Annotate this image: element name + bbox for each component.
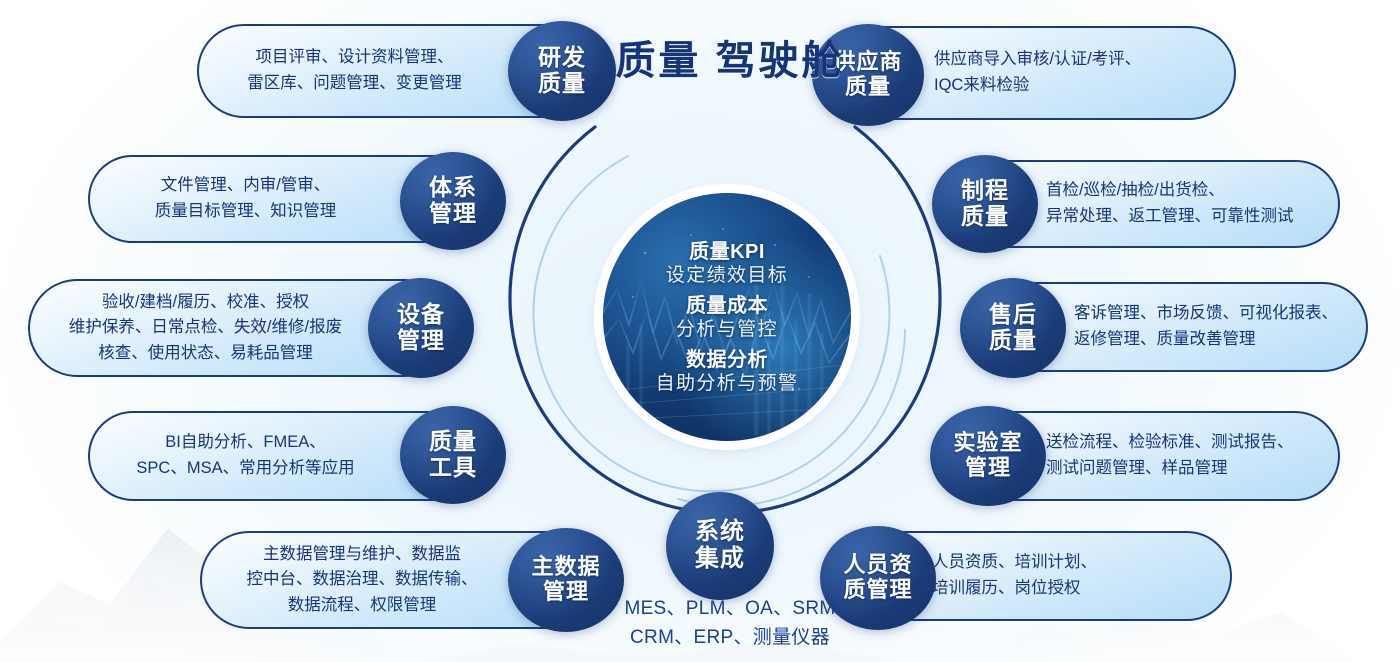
module-node-system-integration[interactable]: 系统 集成 (666, 492, 774, 600)
core-block-subtitle: 自助分析与预警 (656, 374, 799, 393)
core-block: 质量KPI 设定绩效目标 (656, 242, 799, 285)
module-node-equipment-management[interactable]: 设备 管理 (368, 278, 474, 378)
module-node-system-management[interactable]: 体系 管理 (400, 152, 506, 250)
module-node-rd-quality[interactable]: 研发 质量 (508, 21, 616, 121)
module-node-lab-management[interactable]: 实验室 管理 (930, 406, 1046, 506)
module-node-label: 体系 管理 (429, 175, 477, 227)
core-block-title: 质量成本 (656, 296, 799, 316)
module-node-quality-tools[interactable]: 质量 工具 (400, 406, 506, 504)
system-integration-list: MES、PLM、OA、SRM CRM、ERP、测量仪器 (570, 594, 890, 653)
infographic-canvas: 质量 驾驶舱 (0, 0, 1400, 662)
module-node-label: 售后 质量 (989, 302, 1037, 354)
module-node-label: 制程 质量 (961, 178, 1009, 230)
core-block-title: 质量KPI (656, 242, 799, 262)
core-block-subtitle: 设定绩效目标 (656, 266, 799, 285)
module-node-label: 系统 集成 (695, 519, 745, 573)
core-block: 数据分析 自助分析与预警 (656, 350, 799, 393)
module-node-process-quality[interactable]: 制程 质量 (932, 155, 1038, 253)
module-node-label: 设备 管理 (397, 302, 445, 354)
module-node-label: 质量 工具 (429, 429, 477, 481)
module-node-after-sales-quality[interactable]: 售后 质量 (960, 278, 1066, 378)
module-node-label: 实验室 管理 (953, 431, 1022, 480)
page-title: 质量 驾驶舱 (610, 38, 850, 85)
core-block-title: 数据分析 (656, 350, 799, 370)
core-block-subtitle: 分析与管控 (656, 320, 799, 339)
module-node-label: 研发 质量 (538, 45, 586, 97)
core-circle: 质量KPI 设定绩效目标 质量成本 分析与管控 数据分析 自助分析与预警 (603, 193, 851, 441)
core-block: 质量成本 分析与管控 (656, 296, 799, 339)
